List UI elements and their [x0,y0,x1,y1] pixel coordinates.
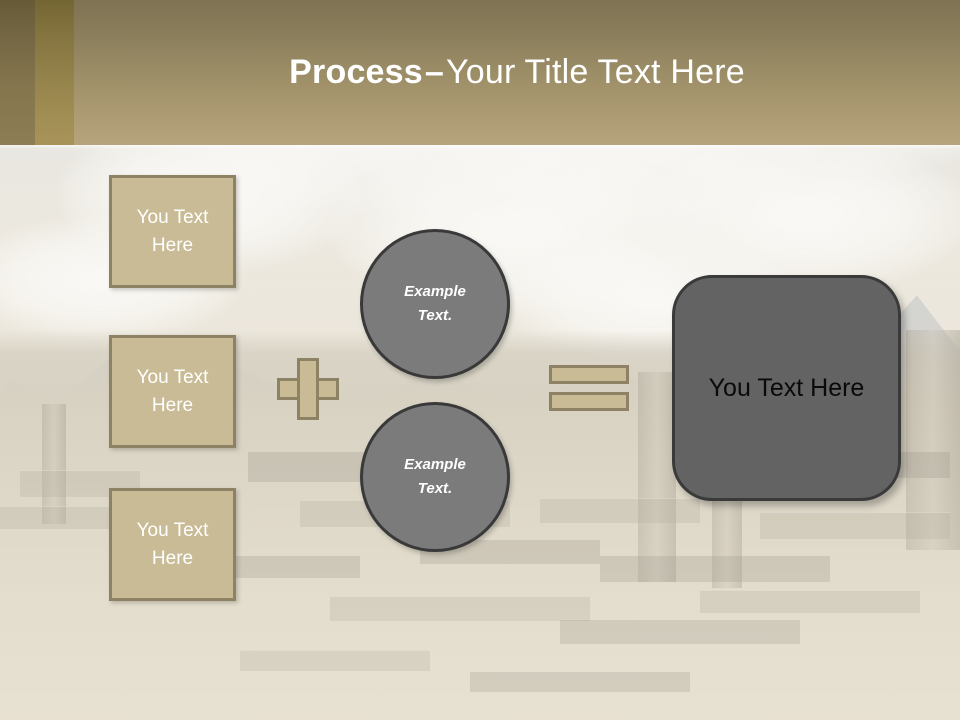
ruin-block [470,672,690,692]
input-box-2-label: You Text Here [137,364,209,419]
ruin-block [540,498,700,523]
input-box-1[interactable]: You Text Here [109,175,236,288]
equals-icon-bottom-bar [549,392,629,411]
title-rest-part: Your Title Text Here [446,53,745,92]
title-bold-part: Process [289,53,423,92]
ruin-block [330,596,590,621]
slide: Process – Your Title Text Here You Text … [0,0,960,720]
slide-title: Process – Your Title Text Here [74,0,960,145]
result-box-label: You Text Here [709,374,865,403]
example-circle-1-label: Example Text. [404,280,466,328]
plus-center-fill [300,381,316,397]
header-accent-bar-gold [35,0,74,145]
slide-header: Process – Your Title Text Here [0,0,960,145]
header-underline [0,145,960,148]
example-circle-2-label: Example Text. [404,453,466,501]
header-accent-bar-dark [0,0,35,145]
ruin-block [240,650,430,671]
ruin-block [760,512,950,539]
example-circle-2[interactable]: Example Text. [360,402,510,552]
title-dash: – [423,53,446,92]
ruin-block [600,556,830,582]
input-box-2[interactable]: You Text Here [109,335,236,448]
plus-icon [277,358,339,420]
input-box-1-label: You Text Here [137,204,209,259]
equals-icon-top-bar [549,365,629,384]
result-box[interactable]: You Text Here [672,275,901,501]
ruin-block [560,620,800,644]
example-circle-1[interactable]: Example Text. [360,229,510,379]
ruin-block [700,590,920,613]
ruin-column [638,372,676,582]
input-box-3[interactable]: You Text Here [109,488,236,601]
input-box-3-label: You Text Here [137,517,209,572]
